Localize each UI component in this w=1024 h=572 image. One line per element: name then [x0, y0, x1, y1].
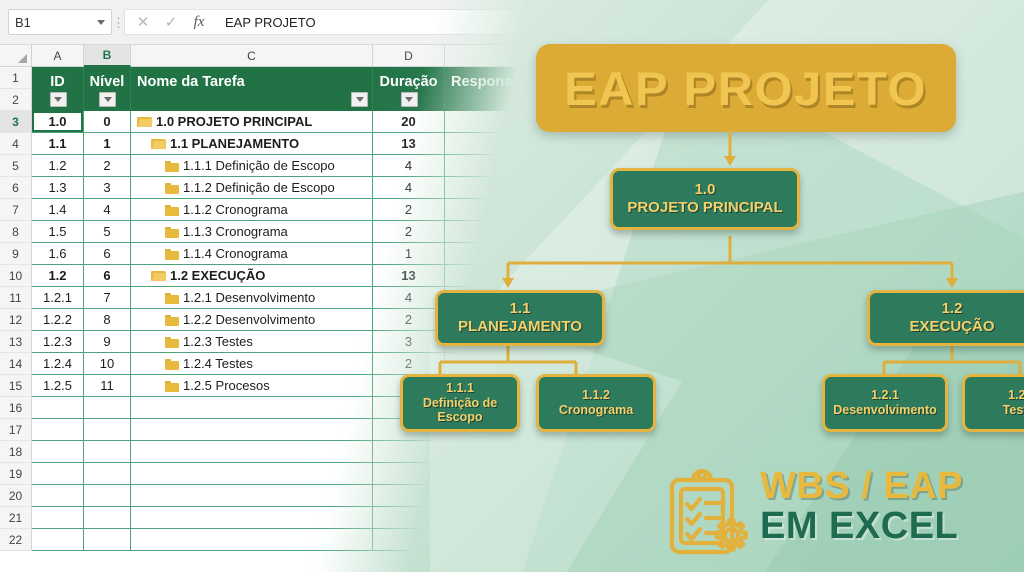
cell-duracao[interactable] [373, 507, 445, 529]
table-row[interactable]: 21 [0, 507, 600, 529]
cell-id[interactable]: 1.2 [32, 155, 84, 177]
title-banner: EAP PROJETO [536, 44, 956, 132]
cell-value: 9 [103, 334, 110, 349]
row-header-22[interactable]: 22 [0, 529, 32, 551]
wbs-diagram: 1.0 PROJETO PRINCIPAL 1.1 PLANEJAMENTO 1… [420, 130, 1024, 460]
column-header-c[interactable]: C [131, 45, 373, 67]
cell-value: 1.1.1 Definição de Escopo [183, 158, 335, 173]
cell-task-name[interactable]: 1.2 EXECUÇÃO [131, 265, 373, 287]
table-row[interactable]: 20 [0, 485, 600, 507]
row-header-8[interactable]: 8 [0, 221, 32, 243]
cell-value: 1.2.5 Procesos [183, 378, 270, 393]
cell-task-name[interactable] [131, 507, 373, 529]
folder-open-icon [151, 270, 166, 282]
cell-value: 1.6 [48, 246, 66, 261]
folder-closed-icon [165, 160, 179, 172]
cell-value: 1.0 [48, 114, 66, 129]
cell-value: 6 [103, 246, 110, 261]
cell-value: 4 [103, 202, 110, 217]
folder-closed-icon [165, 182, 179, 194]
node-id: 1.2 [942, 300, 963, 318]
table-header-cells: IDNívelNome da TarefaDuraçãoResponsá [32, 67, 600, 111]
cell-task-name[interactable]: 1.1.4 Cronograma [131, 243, 373, 265]
cell-id[interactable]: 1.2.3 [32, 331, 84, 353]
table-header-cell[interactable]: Nome da Tarefa [131, 67, 373, 111]
cell-duracao[interactable] [373, 463, 445, 485]
cell-id[interactable]: 1.2.1 [32, 287, 84, 309]
cell-value: 1.2.4 [43, 356, 72, 371]
cell-value: 1.1.2 Definição de Escopo [183, 180, 335, 195]
cell-nivel[interactable]: 6 [84, 243, 131, 265]
cell-id[interactable] [32, 463, 84, 485]
cell-nivel[interactable] [84, 419, 131, 441]
row-header-1[interactable]: 1 [0, 67, 32, 89]
table-header-label: Nível [90, 74, 125, 90]
node-id: 1.2.2 [1008, 388, 1024, 403]
cell-id[interactable] [32, 441, 84, 463]
formula-input-value: EAP PROJETO [225, 15, 316, 30]
node-label: Desenvolvimento [833, 403, 937, 418]
cell-value: 6 [103, 268, 110, 283]
diagram-node-planejamento[interactable]: 1.1 PLANEJAMENTO [435, 290, 605, 346]
table-header-label: Nome da Tarefa [137, 74, 245, 90]
row-header-2[interactable]: 2 [0, 89, 32, 111]
row-header-13[interactable]: 13 [0, 331, 32, 353]
diagram-node-definicao-escopo[interactable]: 1.1.1 Definição de Escopo [400, 374, 520, 432]
cell-nivel[interactable] [84, 485, 131, 507]
diagram-node-testes[interactable]: 1.2.2 Testes [962, 374, 1024, 432]
cell-value: 10 [100, 356, 114, 371]
cell-responsavel[interactable] [445, 485, 600, 507]
node-id: 1.1 [510, 300, 531, 318]
cell-value: 13 [401, 268, 415, 283]
cell-task-name[interactable]: 1.1 PLANEJAMENTO [131, 133, 373, 155]
cell-value: 1.1.3 Cronograma [183, 224, 288, 239]
cell-nivel[interactable]: 4 [84, 199, 131, 221]
cell-id[interactable]: 1.2.5 [32, 375, 84, 397]
table-row[interactable]: 22 [0, 529, 600, 551]
cell-value: 1.1 PLANEJAMENTO [170, 136, 299, 151]
cell-id[interactable]: 1.0 [32, 111, 84, 133]
cell-task-name[interactable]: 1.2.5 Procesos [131, 375, 373, 397]
node-label: PLANEJAMENTO [458, 318, 582, 336]
cell-value: 13 [401, 136, 415, 151]
cell-task-name[interactable]: 1.1.1 Definição de Escopo [131, 155, 373, 177]
folder-closed-icon [165, 226, 179, 238]
logo-line-2: EM EXCEL [760, 507, 1018, 547]
cell-id[interactable] [32, 397, 84, 419]
cell-value: 1.1 [48, 136, 66, 151]
cell-value: 1.1.4 Cronograma [183, 246, 288, 261]
node-label: Cronograma [559, 403, 633, 418]
row-header-5[interactable]: 5 [0, 155, 32, 177]
cell-value: 20 [401, 114, 415, 129]
cell-task-name[interactable] [131, 441, 373, 463]
filter-dropdown-icon[interactable] [351, 92, 368, 107]
cell-value: 2 [405, 202, 412, 217]
cell-task-name[interactable] [131, 397, 373, 419]
cell-value: 1.2.1 [43, 290, 72, 305]
row-header-21[interactable]: 21 [0, 507, 32, 529]
cell-task-name[interactable] [131, 419, 373, 441]
cell-value: 1.2 EXECUÇÃO [170, 268, 265, 283]
cell-value: 5 [103, 224, 110, 239]
table-header-label: ID [50, 74, 65, 90]
cell-value: 1.2.2 [43, 312, 72, 327]
close-icon[interactable]: ✕ [129, 13, 157, 31]
logo-line-1: WBS / EAP [760, 467, 1018, 507]
column-header-b[interactable]: B [84, 45, 131, 67]
cell-nivel[interactable] [84, 397, 131, 419]
cell-task-name[interactable] [131, 529, 373, 551]
folder-open-icon [151, 138, 166, 150]
cell-nivel[interactable]: 9 [84, 331, 131, 353]
node-id: 1.2.1 [871, 388, 899, 403]
table-row[interactable]: 19 [0, 463, 600, 485]
cell-id[interactable]: 1.6 [32, 243, 84, 265]
row-header-10[interactable]: 10 [0, 265, 32, 287]
node-label: Testes [1003, 403, 1024, 418]
cell-value: 0 [103, 114, 110, 129]
cell-task-name[interactable]: 1.0 PROJETO PRINCIPAL [131, 111, 373, 133]
row-header-3[interactable]: 3 [0, 111, 32, 133]
cell-id[interactable] [32, 485, 84, 507]
cell-value: 1.2.1 Desenvolvimento [183, 290, 315, 305]
cell-value: 3 [405, 334, 412, 349]
cell-nivel[interactable]: 2 [84, 155, 131, 177]
formula-action-group: ✕ ✓ fx [124, 9, 217, 35]
node-id: 1.1.1 [446, 381, 474, 396]
table-header-cell[interactable]: Nível [84, 67, 131, 111]
cell-task-name[interactable]: 1.2.2 Desenvolvimento [131, 309, 373, 331]
diagram-node-desenvolvimento[interactable]: 1.2.1 Desenvolvimento [822, 374, 948, 432]
node-id: 1.0 [695, 181, 716, 199]
table-header-label: Responsá [451, 74, 520, 90]
cell-value: 7 [103, 290, 110, 305]
folder-closed-icon [165, 336, 179, 348]
cell-id[interactable]: 1.2.2 [32, 309, 84, 331]
filter-dropdown-icon[interactable] [99, 92, 116, 107]
table-header-cell[interactable]: Duração [373, 67, 445, 111]
cell-responsavel[interactable] [445, 507, 600, 529]
cell-nivel[interactable]: 1 [84, 133, 131, 155]
fx-icon[interactable]: fx [185, 14, 213, 31]
cell-value: 1.2 [48, 158, 66, 173]
cell-value: 2 [103, 158, 110, 173]
cell-value: 8 [103, 312, 110, 327]
row-header-6[interactable]: 6 [0, 177, 32, 199]
cell-nivel[interactable] [84, 463, 131, 485]
cell-task-name[interactable]: 1.1.3 Cronograma [131, 221, 373, 243]
diagram-node-root[interactable]: 1.0 PROJETO PRINCIPAL [610, 168, 800, 230]
cell-id[interactable]: 1.3 [32, 177, 84, 199]
cell-nivel[interactable]: 6 [84, 265, 131, 287]
cell-nivel[interactable]: 8 [84, 309, 131, 331]
node-label: EXECUÇÃO [909, 318, 994, 336]
cell-id[interactable] [32, 529, 84, 551]
folder-closed-icon [165, 358, 179, 370]
folder-closed-icon [165, 204, 179, 216]
cell-value: 1.2.3 [43, 334, 72, 349]
filter-dropdown-icon[interactable] [401, 92, 418, 107]
row-header-9[interactable]: 9 [0, 243, 32, 265]
cell-value: 2 [405, 312, 412, 327]
cell-id[interactable] [32, 419, 84, 441]
header-row-numbers: 12 [0, 67, 32, 111]
cell-value: 1.2 [48, 268, 66, 283]
folder-closed-icon [165, 292, 179, 304]
chevron-down-icon[interactable] [97, 20, 105, 25]
column-header-d[interactable]: D [373, 45, 445, 67]
cell-value: 4 [405, 180, 412, 195]
formula-bar: B1 ⋮ ✕ ✓ fx EAP PROJETO [0, 0, 600, 45]
row-header-17[interactable]: 17 [0, 419, 32, 441]
row-header-16[interactable]: 16 [0, 397, 32, 419]
cell-task-name[interactable]: 1.2.4 Testes [131, 353, 373, 375]
row-header-11[interactable]: 11 [0, 287, 32, 309]
cell-id[interactable]: 1.4 [32, 199, 84, 221]
cell-value: 2 [405, 224, 412, 239]
more-options-icon[interactable]: ⋮ [112, 16, 124, 29]
logo-text: WBS / EAP EM EXCEL [760, 467, 1018, 563]
cell-nivel[interactable]: 3 [84, 177, 131, 199]
cell-value: 4 [405, 290, 412, 305]
cell-id[interactable]: 1.5 [32, 221, 84, 243]
cell-task-name[interactable]: 1.2.3 Testes [131, 331, 373, 353]
cell-task-name[interactable]: 1.2.1 Desenvolvimento [131, 287, 373, 309]
cell-value: 1.3 [48, 180, 66, 195]
cell-task-name[interactable] [131, 463, 373, 485]
cell-value: 1.2.4 Testes [183, 356, 253, 371]
row-header-12[interactable]: 12 [0, 309, 32, 331]
cell-value: 1.1.2 Cronograma [183, 202, 288, 217]
folder-closed-icon [165, 380, 179, 392]
cell-value: 11 [100, 378, 114, 393]
cell-value: 2 [405, 356, 412, 371]
cell-value: 1.2.3 Testes [183, 334, 253, 349]
cell-nivel[interactable]: 10 [84, 353, 131, 375]
cell-id[interactable] [32, 507, 84, 529]
folder-closed-icon [165, 314, 179, 326]
name-box[interactable]: B1 [8, 9, 112, 35]
cell-nivel[interactable]: 7 [84, 287, 131, 309]
cell-duracao[interactable] [373, 529, 445, 551]
cell-task-name[interactable] [131, 485, 373, 507]
banner-title: EAP PROJETO [564, 61, 927, 116]
cell-value: 1.5 [48, 224, 66, 239]
cell-duracao[interactable] [373, 485, 445, 507]
cell-nivel[interactable]: 5 [84, 221, 131, 243]
table-header-cell[interactable]: ID [32, 67, 84, 111]
row-header-14[interactable]: 14 [0, 353, 32, 375]
clipboard-checklist-gear-icon [660, 466, 756, 562]
row-header-7[interactable]: 7 [0, 199, 32, 221]
row-header-4[interactable]: 4 [0, 133, 32, 155]
cell-value: 1.0 PROJETO PRINCIPAL [156, 114, 312, 129]
cell-value: 3 [103, 180, 110, 195]
screenshot-root: B1 ⋮ ✕ ✓ fx EAP PROJETO ABCDE 12 IDNível… [0, 0, 1024, 572]
row-header-15[interactable]: 15 [0, 375, 32, 397]
cell-responsavel[interactable] [445, 463, 600, 485]
cell-responsavel[interactable] [445, 529, 600, 551]
formula-input[interactable]: EAP PROJETO [217, 9, 592, 35]
cell-id[interactable]: 1.2 [32, 265, 84, 287]
node-label: Definição de Escopo [403, 396, 517, 426]
cell-nivel[interactable]: 0 [84, 111, 131, 133]
name-box-value: B1 [15, 15, 97, 30]
node-id: 1.1.2 [582, 388, 610, 403]
select-all-corner[interactable] [0, 45, 32, 67]
cell-task-name[interactable]: 1.1.2 Cronograma [131, 199, 373, 221]
check-icon[interactable]: ✓ [157, 13, 185, 31]
cell-nivel[interactable] [84, 507, 131, 529]
cell-id[interactable]: 1.1 [32, 133, 84, 155]
column-header-row: ABCDE [0, 45, 600, 67]
cell-nivel[interactable] [84, 529, 131, 551]
cell-value: 1.2.2 Desenvolvimento [183, 312, 315, 327]
cell-nivel[interactable]: 11 [84, 375, 131, 397]
cell-value: 1.4 [48, 202, 66, 217]
row-header-20[interactable]: 20 [0, 485, 32, 507]
row-header-19[interactable]: 19 [0, 463, 32, 485]
node-label: PROJETO PRINCIPAL [627, 199, 782, 217]
table-header-label: Duração [379, 74, 437, 90]
cell-id[interactable]: 1.2.4 [32, 353, 84, 375]
cell-value: 1 [103, 136, 110, 151]
table-header-band: 12 IDNívelNome da TarefaDuraçãoResponsá [0, 67, 600, 111]
cell-nivel[interactable] [84, 441, 131, 463]
folder-closed-icon [165, 248, 179, 260]
cell-task-name[interactable]: 1.1.2 Definição de Escopo [131, 177, 373, 199]
filter-dropdown-icon[interactable] [50, 92, 67, 107]
cell-value: 1 [405, 246, 412, 261]
folder-open-icon [137, 116, 152, 128]
logo-block: WBS / EAP EM EXCEL [660, 462, 1020, 568]
row-header-18[interactable]: 18 [0, 441, 32, 463]
column-header-a[interactable]: A [32, 45, 84, 67]
diagram-node-execucao[interactable]: 1.2 EXECUÇÃO [867, 290, 1024, 346]
cell-value: 1.2.5 [43, 378, 72, 393]
cell-value: 4 [405, 158, 412, 173]
diagram-node-cronograma[interactable]: 1.1.2 Cronograma [536, 374, 656, 432]
